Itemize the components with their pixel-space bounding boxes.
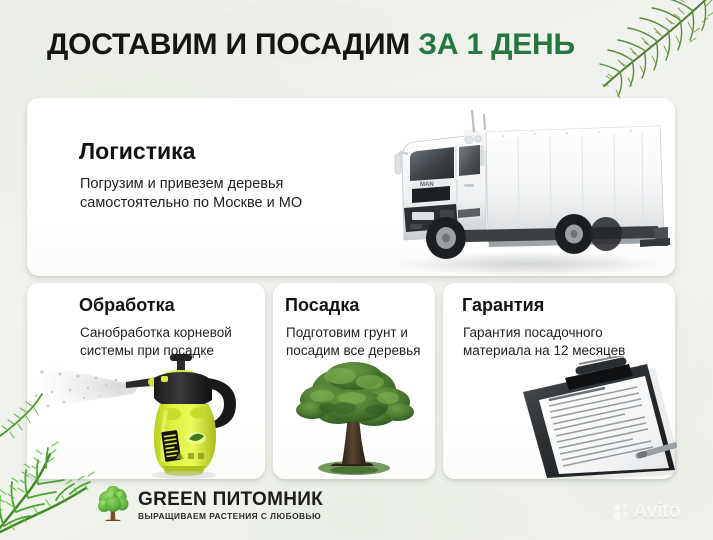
card-warranty-title: Гарантия — [462, 295, 544, 316]
card-treatment[interactable]: Обработка Санобработка корневой системы … — [27, 283, 265, 479]
card-logistics-description: Погрузим и привезем деревья самостоятель… — [80, 175, 370, 214]
page-title: ДОСТАВИМ И ПОСАДИМ ЗА 1 ДЕНЬ — [47, 28, 575, 62]
avito-label: Avito — [633, 500, 680, 523]
card-planting-description: Подготовим грунт и посадим все деревья — [286, 324, 432, 360]
card-logistics[interactable]: Логистика Погрузим и привезем деревья са… — [27, 98, 675, 276]
green-tree-icon — [96, 486, 130, 524]
promo-banner: ДОСТАВИМ И ПОСАДИМ ЗА 1 ДЕНЬ Логистика П… — [0, 0, 713, 540]
card-warranty[interactable]: Гарантия Гарантия посадочного материала … — [443, 283, 675, 479]
avito-logo-icon — [613, 503, 630, 521]
card-warranty-description: Гарантия посадочного материала на 12 мес… — [463, 324, 663, 360]
card-planting[interactable]: Посадка Подготовим грунт и посадим все д… — [273, 283, 435, 479]
card-planting-title: Посадка — [285, 295, 359, 316]
avito-watermark: Avito — [613, 500, 680, 523]
logo-name: GREEN ПИТОМНИК — [138, 490, 323, 509]
card-logistics-title: Логистика — [79, 138, 195, 165]
headline-primary: ДОСТАВИМ И ПОСАДИМ — [47, 28, 410, 61]
card-treatment-description: Санобработка корневой системы при посадк… — [80, 324, 255, 360]
conifer-branch-top-right-icon — [596, 0, 713, 114]
logo-tagline: ВЫРАЩИВАЕМ РАСТЕНИЯ С ЛЮБОВЬЮ — [138, 512, 323, 520]
card-treatment-title: Обработка — [79, 295, 175, 316]
headline-accent: ЗА 1 ДЕНЬ — [418, 28, 575, 61]
brand-logo[interactable]: GREEN ПИТОМНИК ВЫРАЩИВАЕМ РАСТЕНИЯ С ЛЮБ… — [96, 486, 323, 524]
